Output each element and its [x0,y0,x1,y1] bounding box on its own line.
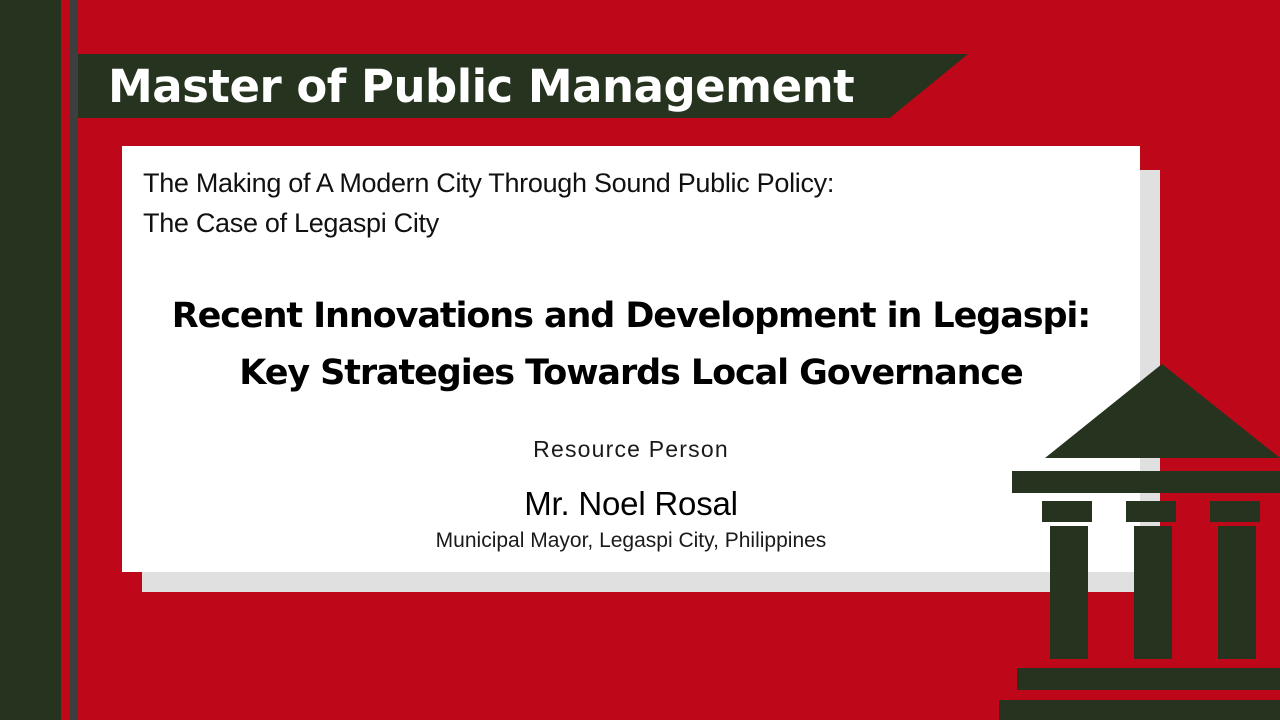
content-card: The Making of A Modern City Through Soun… [122,146,1140,572]
speaker-role-label: Resource Person [122,436,1140,463]
left-gray-stripe [70,0,78,720]
left-green-stripe [0,0,61,720]
speaker-block: Resource Person Mr. Noel Rosal Municipal… [122,436,1140,553]
main-title-line-1: Recent Innovations and Development in Le… [122,288,1140,345]
subtitle-block: The Making of A Modern City Through Soun… [143,164,1103,244]
speaker-affiliation: Municipal Mayor, Legaspi City, Philippin… [122,529,1140,553]
program-banner-title: Master of Public Management [108,64,854,109]
left-red-gap-stripe [61,0,70,720]
classical-building-icon [995,358,1280,720]
presentation-slide: Master of Public Management The Making o… [0,0,1280,720]
speaker-name: Mr. Noel Rosal [122,485,1140,523]
main-title-line-2: Key Strategies Towards Local Governance [122,345,1140,402]
subtitle-line-2: The Case of Legaspi City [143,204,1103,244]
subtitle-line-1: The Making of A Modern City Through Soun… [143,164,1103,204]
program-banner: Master of Public Management [78,54,968,118]
page-title: Recent Innovations and Development in Le… [122,288,1140,401]
